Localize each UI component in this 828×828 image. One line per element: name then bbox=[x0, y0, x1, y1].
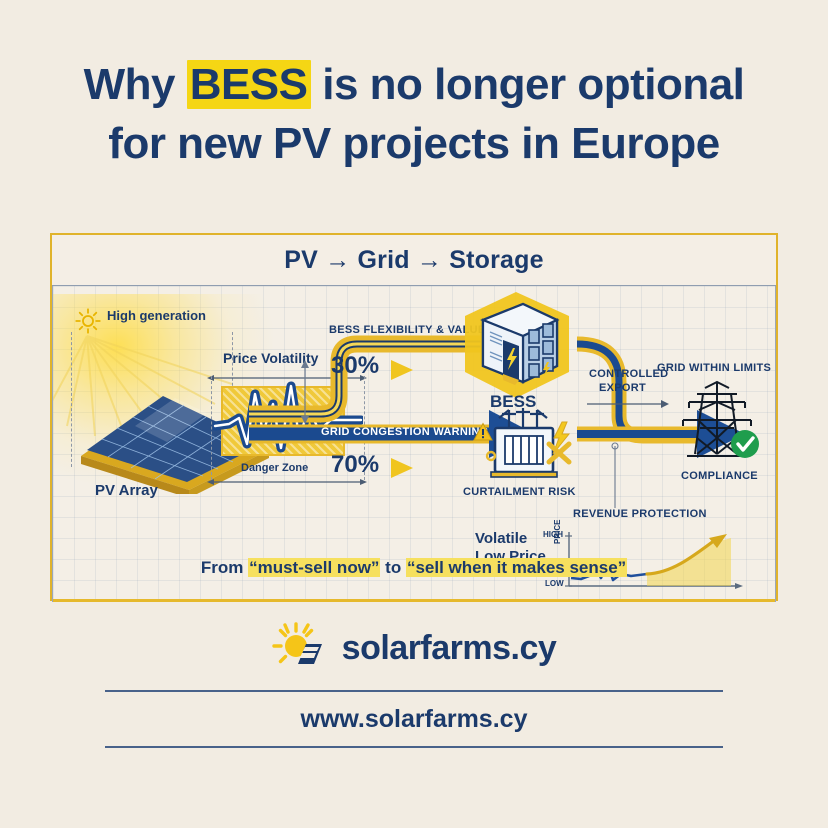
label-storage-share-pct: 30% bbox=[331, 352, 379, 380]
diagram-body: High generation bbox=[52, 286, 776, 602]
transformer-icon bbox=[469, 404, 581, 490]
infographic-page: Why BESS is no longer optional for new P… bbox=[0, 0, 828, 828]
footer-rule-top bbox=[105, 690, 723, 692]
diagram-header-title: PV → Grid → Storage bbox=[284, 246, 543, 275]
chart-ylabel-price: PRICE bbox=[553, 520, 562, 544]
chart-title-revenue-protection: REVENUE PROTECTION bbox=[573, 508, 707, 520]
caption-mid: to bbox=[380, 558, 406, 577]
title-line-1: Why BESS is no longer optional bbox=[0, 56, 828, 115]
label-grid-share-pct: 70% bbox=[331, 451, 379, 479]
page-title: Why BESS is no longer optional for new P… bbox=[0, 56, 828, 173]
logo-text: solarfarms.cy bbox=[342, 629, 557, 668]
label-grid-congestion: GRID CONGESTION WARNING bbox=[321, 426, 489, 438]
caption-quote-1: “must-sell now” bbox=[248, 558, 380, 577]
bess-battery-icon bbox=[457, 290, 575, 402]
title-highlight-bess: BESS bbox=[187, 60, 311, 109]
footer-url[interactable]: www.solarfarms.cy bbox=[105, 692, 723, 746]
label-curtailment-risk: CURTAILMENT RISK bbox=[463, 486, 576, 498]
footer-rule-bottom bbox=[105, 746, 723, 748]
label-controlled-export-line2: EXPORT bbox=[599, 382, 646, 394]
label-compliance: COMPLIANCE bbox=[681, 470, 758, 482]
label-grid-within-limits: GRID WITHIN LIMITS bbox=[657, 362, 771, 374]
label-volatile-line1: Volatile bbox=[475, 530, 527, 547]
caption-quote-2: “sell when it makes sense” bbox=[406, 558, 627, 577]
title-part-post: is no longer optional bbox=[311, 60, 745, 109]
sun-panel-logo-icon bbox=[272, 622, 328, 674]
diagram-panel: PV → Grid → Storage bbox=[50, 233, 778, 601]
chart-ytick-low: LOW bbox=[545, 579, 564, 588]
caption-pre: From bbox=[201, 558, 248, 577]
diagram-header: PV → Grid → Storage bbox=[52, 235, 776, 286]
panel-bottom-rule bbox=[53, 599, 775, 602]
brand-logo[interactable]: solarfarms.cy bbox=[0, 622, 828, 674]
title-line-2: for new PV projects in Europe bbox=[0, 115, 828, 174]
diagram-caption: From “must-sell now” to “sell when it ma… bbox=[53, 558, 775, 578]
transmission-pylon-icon bbox=[667, 380, 767, 468]
footer-url-block: www.solarfarms.cy bbox=[105, 690, 723, 748]
title-part-pre: Why bbox=[84, 60, 187, 109]
